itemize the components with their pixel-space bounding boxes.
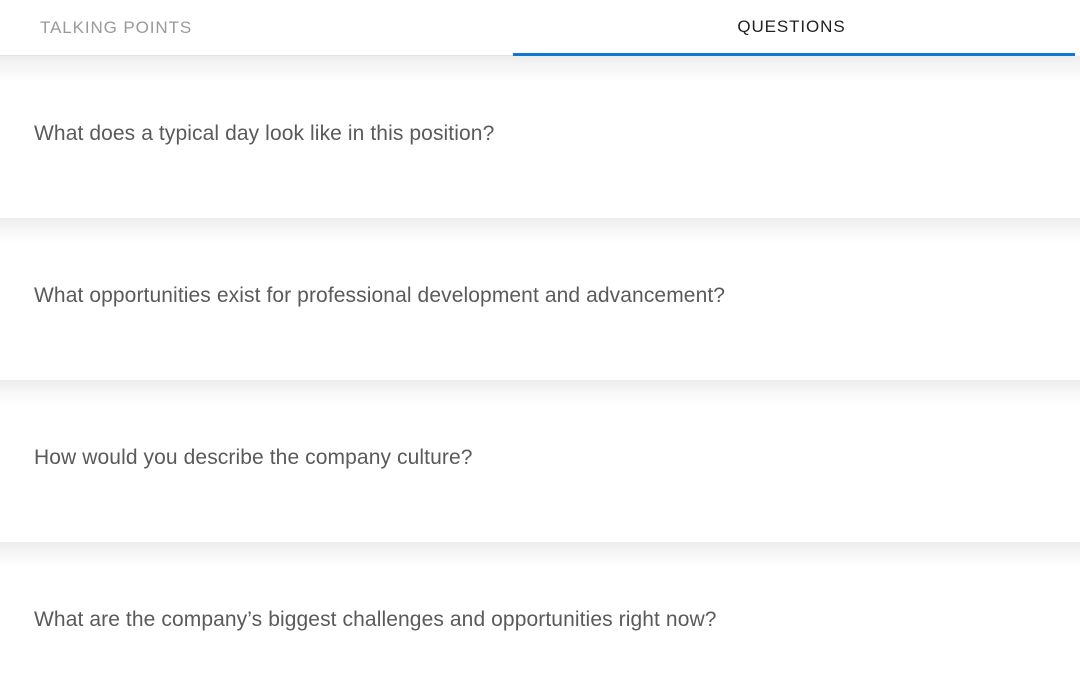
card-separator	[0, 218, 1080, 244]
tab-talking-points-label: TALKING POINTS	[40, 19, 192, 36]
question-card[interactable]: What are the company’s biggest challenge…	[0, 568, 1080, 700]
card-separator	[0, 380, 1080, 406]
tab-questions-label: QUESTIONS	[737, 18, 845, 35]
tab-talking-points[interactable]: TALKING POINTS	[0, 0, 513, 56]
card-separator	[0, 542, 1080, 568]
questions-screen: TALKING POINTS QUESTIONS What does a typ…	[0, 0, 1080, 700]
question-text: What does a typical day look like in thi…	[34, 120, 1046, 148]
question-card[interactable]: How would you describe the company cultu…	[0, 406, 1080, 542]
tab-questions[interactable]: QUESTIONS	[513, 0, 1075, 56]
question-card[interactable]: What does a typical day look like in thi…	[0, 82, 1080, 218]
question-text: What opportunities exist for professiona…	[34, 282, 1046, 310]
question-card[interactable]: What opportunities exist for professiona…	[0, 244, 1080, 380]
card-separator	[0, 56, 1080, 82]
question-text: What are the company’s biggest challenge…	[34, 606, 1046, 634]
questions-list: What does a typical day look like in thi…	[0, 56, 1080, 700]
question-text: How would you describe the company cultu…	[34, 444, 1046, 472]
tab-bar: TALKING POINTS QUESTIONS	[0, 0, 1080, 56]
